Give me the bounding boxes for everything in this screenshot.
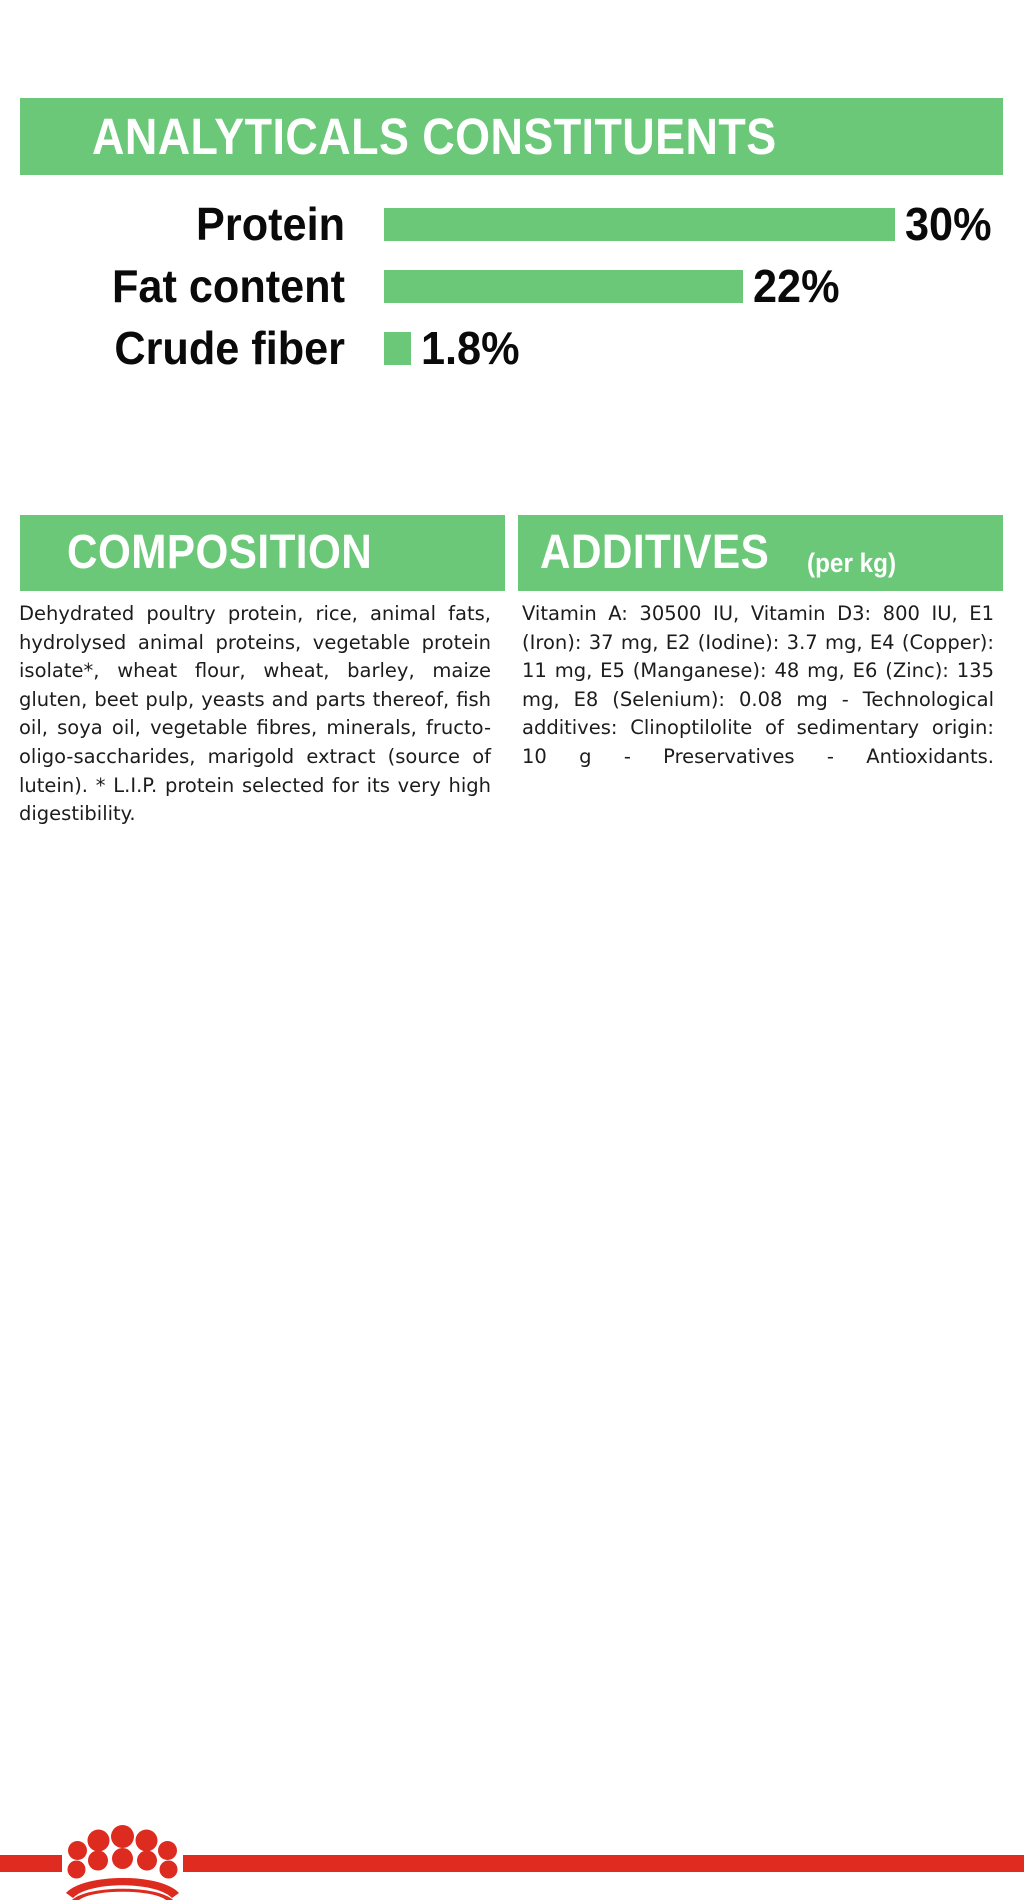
chart-bar-wrap-fat-content: 22% — [345, 258, 1024, 314]
chart-bar-crude-fiber — [384, 332, 411, 365]
additives-header: ADDITIVES (per kg) — [518, 515, 1003, 591]
chart-label-fat-content: Fat content — [21, 263, 345, 309]
chart-row-crude-fiber: Crude fiber 1.8% — [0, 320, 1024, 376]
analyticals-constituents-header: ANALYTICALS CONSTITUENTS — [20, 98, 1003, 175]
chart-bar-wrap-crude-fiber: 1.8% — [345, 320, 1024, 376]
footer-rule-left — [0, 1855, 62, 1872]
chart-value-crude-fiber: 1.8% — [421, 325, 520, 371]
chart-value-protein: 30% — [905, 201, 992, 247]
composition-body-text: Dehydrated poultry protein, rice, animal… — [19, 600, 491, 857]
additives-subtitle-per-kg: (per kg) — [807, 550, 896, 577]
additives-title: ADDITIVES — [540, 529, 769, 577]
chart-bar-wrap-protein: 30% — [345, 196, 1024, 252]
analyticals-constituents-title: ANALYTICALS CONSTITUENTS — [92, 111, 777, 162]
chart-label-crude-fiber: Crude fiber — [21, 325, 345, 371]
additives-body-text: Vitamin A: 30500 IU, Vitamin D3: 800 IU,… — [522, 600, 994, 800]
chart-value-fat-content: 22% — [753, 263, 840, 309]
footer-rule-right — [183, 1855, 1024, 1872]
chart-bar-fat-content — [384, 270, 743, 303]
royal-canin-crown-icon — [62, 1825, 183, 1900]
chart-label-protein: Protein — [21, 201, 345, 247]
chart-row-protein: Protein 30% — [0, 196, 1024, 252]
composition-header: COMPOSITION — [20, 515, 505, 591]
chart-row-fat-content: Fat content 22% — [0, 258, 1024, 314]
composition-title: COMPOSITION — [67, 529, 372, 577]
footer — [0, 900, 1024, 1024]
analyticals-bar-chart: Protein 30% Fat content 22% Crude fiber … — [0, 196, 1024, 396]
chart-bar-protein — [384, 208, 895, 241]
